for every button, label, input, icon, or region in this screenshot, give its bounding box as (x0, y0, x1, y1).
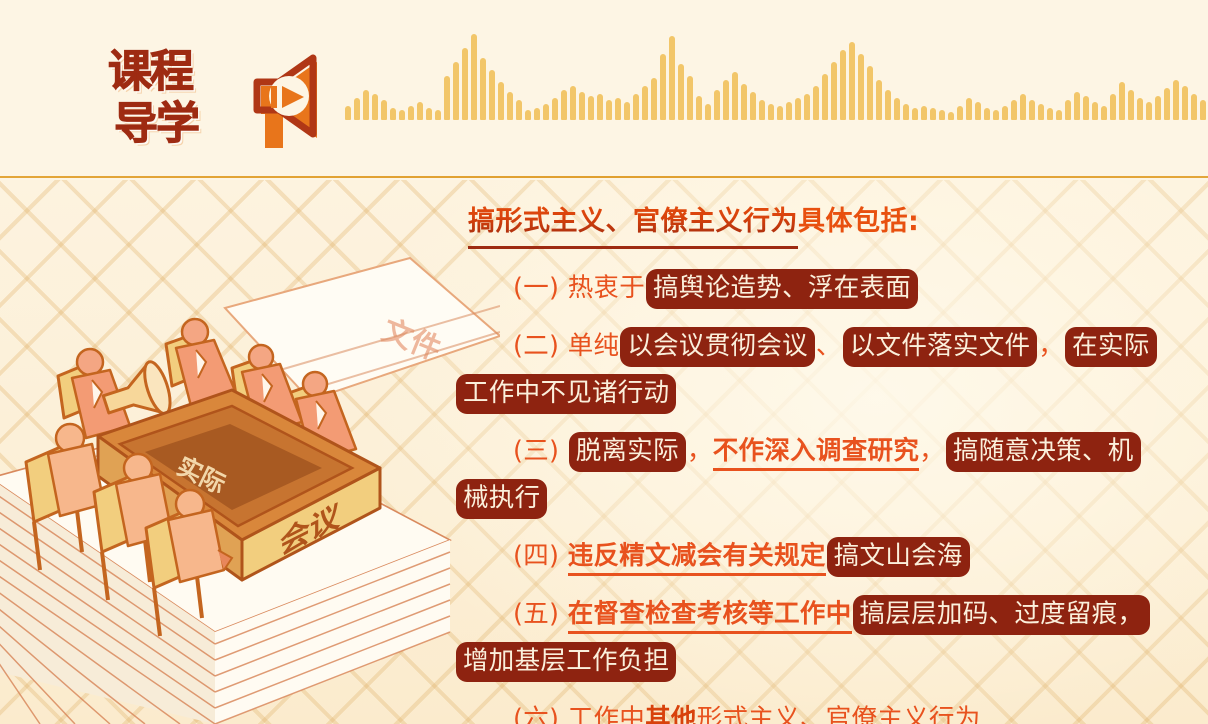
waveform-bar (795, 98, 801, 120)
waveform-bar (1191, 94, 1197, 120)
waveform-bar (1155, 96, 1161, 120)
header-divider (0, 176, 1208, 178)
waveform-bar (894, 98, 900, 120)
waveform-bar (426, 108, 432, 120)
waveform-bar (723, 80, 729, 120)
waveform-bar (1101, 106, 1107, 120)
waveform-bar (660, 54, 666, 120)
waveform-bar (993, 110, 999, 120)
waveform-bar (669, 36, 675, 120)
highlighted-phrase: 搞文山会海 (827, 537, 970, 577)
logo-line-2: 导学 (114, 98, 226, 150)
list-item: (二) 单纯以会议贯彻会议、以文件落实文件，在实际工作中不见诸行动 (455, 323, 1155, 417)
waveform-bar (1020, 94, 1026, 120)
item-underlined-text: 工作中其他形式主义、官僚主义行为 (568, 704, 981, 724)
waveform-bar (840, 50, 846, 120)
waveform-bar (1128, 90, 1134, 120)
highlighted-phrase: 搞舆论造势、浮在表面 (646, 269, 918, 309)
item-underlined-text: 违反精文减会有关规定 (568, 541, 826, 576)
waveform-bar (489, 70, 495, 120)
item-text-part: 工作中 (568, 704, 645, 724)
waveform-bar (696, 96, 702, 120)
slide-canvas: 课程 导学 (0, 0, 1208, 724)
waveform-bar (912, 108, 918, 120)
megaphone-speaker-icon (243, 52, 335, 148)
waveform-bar (597, 94, 603, 120)
waveform-bar (1038, 104, 1044, 120)
waveform-bar (705, 104, 711, 120)
waveform-bar (525, 110, 531, 120)
waveform-bar (804, 94, 810, 120)
waveform-bar (714, 90, 720, 120)
waveform-bar (768, 104, 774, 120)
item-number: (五) (513, 599, 568, 629)
waveform-bar (390, 108, 396, 120)
waveform-bar (480, 58, 486, 120)
item-accent-text: 其他 (645, 704, 697, 724)
highlighted-phrase: 以文件落实文件 (843, 327, 1038, 367)
waveform-bar (579, 92, 585, 120)
waveform-bar (363, 90, 369, 120)
audio-waveform (345, 28, 1135, 120)
waveform-bar (1110, 94, 1116, 120)
page-title: 搞形式主义、官僚主义行为具体包括: (468, 200, 1155, 249)
waveform-bar (1119, 82, 1125, 120)
waveform-bar (381, 100, 387, 120)
item-number: (六) (513, 704, 568, 724)
waveform-bar (1002, 106, 1008, 120)
waveform-bar (1137, 98, 1143, 120)
waveform-bar (786, 102, 792, 120)
waveform-bar (453, 62, 459, 120)
isometric-meeting-illustration: 文件 (0, 240, 500, 724)
list-item: (一) 热衷于搞舆论造势、浮在表面 (455, 265, 1155, 312)
item-text-part: ， (1038, 331, 1064, 361)
waveform-bar (831, 62, 837, 120)
waveform-bar (930, 108, 936, 120)
waveform-bar (858, 54, 864, 120)
waveform-bar (687, 76, 693, 120)
waveform-bar (507, 92, 513, 120)
waveform-bar (1164, 88, 1170, 120)
waveform-bar (1011, 100, 1017, 120)
item-number: (四) (513, 541, 568, 571)
waveform-bar (642, 86, 648, 120)
waveform-bar (678, 64, 684, 120)
waveform-bar (651, 78, 657, 120)
item-number: (三) (513, 436, 568, 466)
items-list: (一) 热衷于搞舆论造势、浮在表面(二) 单纯以会议贯彻会议、以文件落实文件，在… (455, 265, 1155, 724)
waveform-bar (1173, 80, 1179, 120)
course-logo: 课程 导学 (108, 46, 226, 156)
waveform-bar (921, 106, 927, 120)
waveform-bar (822, 74, 828, 120)
waveform-bar (1182, 86, 1188, 120)
waveform-bar (1065, 100, 1071, 120)
waveform-bar (885, 90, 891, 120)
waveform-bar (939, 110, 945, 120)
waveform-bar (1074, 92, 1080, 120)
list-item: (六) 工作中其他形式主义、官僚主义行为 (455, 696, 1155, 724)
waveform-bar (903, 104, 909, 120)
waveform-bar (984, 108, 990, 120)
header-bar: 课程 导学 (0, 0, 1208, 178)
list-item: (四) 违反精文减会有关规定搞文山会海 (455, 533, 1155, 580)
waveform-bar (471, 34, 477, 120)
waveform-bar (516, 100, 522, 120)
item-text-part: ， (687, 436, 713, 466)
waveform-bar (975, 102, 981, 120)
text-content: 搞形式主义、官僚主义行为具体包括: (一) 热衷于搞舆论造势、浮在表面(二) 单… (455, 200, 1155, 724)
waveform-bar (444, 76, 450, 120)
logo-line-1: 课程 (108, 46, 226, 98)
waveform-bar (1029, 100, 1035, 120)
waveform-bar (876, 80, 882, 120)
waveform-bar (570, 86, 576, 120)
waveform-bar (948, 112, 954, 120)
waveform-bar (849, 42, 855, 120)
item-text-part: 单纯 (568, 331, 620, 361)
highlighted-phrase: 脱离实际 (569, 432, 686, 472)
page-title-underlined: 搞形式主义、官僚主义行为 (468, 200, 798, 249)
list-item: (三) 脱离实际，不作深入调查研究，搞随意决策、机械执行 (455, 428, 1155, 522)
waveform-bar (777, 106, 783, 120)
waveform-bar (345, 106, 351, 120)
waveform-bar (1146, 102, 1152, 120)
waveform-bar (633, 94, 639, 120)
waveform-bar (741, 84, 747, 120)
waveform-bar (1200, 100, 1206, 120)
list-item: (五) 在督查检查考核等工作中搞层层加码、过度留痕，增加基层工作负担 (455, 591, 1155, 685)
waveform-bar (1083, 96, 1089, 120)
waveform-bar (813, 86, 819, 120)
highlighted-phrase: 以会议贯彻会议 (620, 327, 815, 367)
waveform-bar (606, 100, 612, 120)
item-text-part: 形式主义、官僚主义行为 (697, 704, 981, 724)
waveform-bar (435, 110, 441, 120)
item-text-part: 热衷于 (568, 273, 645, 303)
waveform-bar (957, 106, 963, 120)
waveform-bar (966, 98, 972, 120)
waveform-bar (624, 102, 630, 120)
waveform-bar (354, 98, 360, 120)
waveform-bar (534, 108, 540, 120)
item-underlined-text: 不作深入调查研究 (713, 436, 919, 471)
waveform-bar (615, 98, 621, 120)
waveform-bar (867, 66, 873, 120)
waveform-bar (1092, 102, 1098, 120)
waveform-bar (408, 106, 414, 120)
item-text-part: ， (919, 436, 945, 466)
waveform-bar (588, 96, 594, 120)
waveform-bar (759, 100, 765, 120)
waveform-bar (1056, 110, 1062, 120)
waveform-bar (543, 104, 549, 120)
waveform-bar (561, 90, 567, 120)
waveform-bar (1047, 108, 1053, 120)
waveform-bar (372, 94, 378, 120)
item-number: (二) (513, 331, 568, 361)
waveform-bar (750, 92, 756, 120)
waveform-bar (552, 98, 558, 120)
waveform-bar (399, 110, 405, 120)
item-text-part: 、 (816, 331, 842, 361)
item-underlined-text: 在督查检查考核等工作中 (568, 599, 852, 634)
waveform-bar (417, 102, 423, 120)
item-number: (一) (513, 273, 568, 303)
waveform-bar (498, 82, 504, 120)
page-title-tail: 具体包括: (798, 200, 919, 246)
waveform-bar (462, 48, 468, 120)
waveform-bar (732, 72, 738, 120)
